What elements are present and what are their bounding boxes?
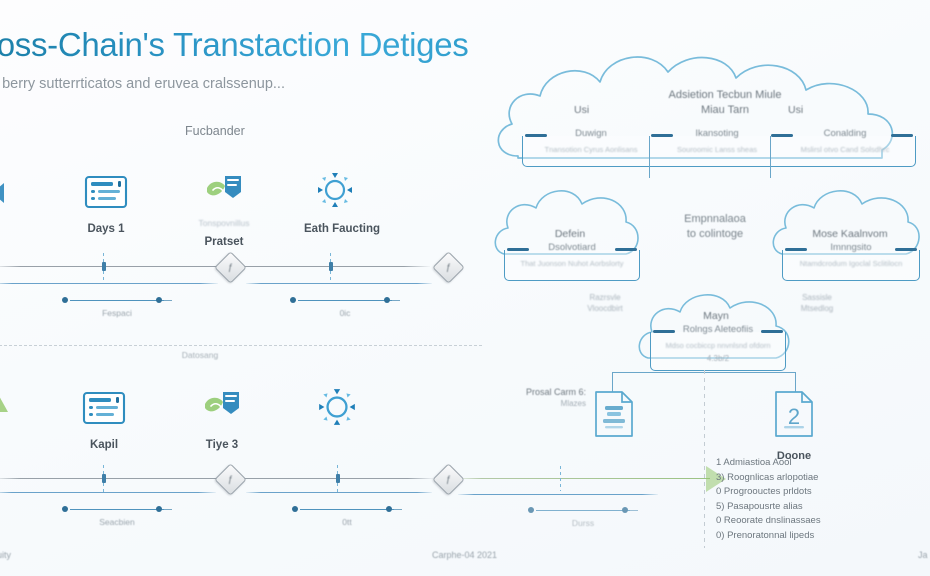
cloud-top-title-line1: Adsietion Tecbun Miule	[600, 88, 850, 103]
band-title: Dsolvotiard	[505, 242, 639, 253]
cloud-top-left-tag: Usi	[574, 104, 589, 116]
band-title: Duwign	[527, 128, 655, 139]
list-item: 0 Progroouctes prldots	[716, 485, 821, 500]
list-item: 0 Reoorate dnslinassaes	[716, 514, 821, 529]
measure-label: Fespaci	[62, 308, 172, 318]
cloud-top-title: Adsietion Tecbun Miule Miau Tarn	[600, 88, 850, 118]
timeline-underline	[458, 494, 658, 495]
timeline-node-glyph: ƒ	[220, 469, 241, 490]
svg-text:2: 2	[788, 404, 800, 429]
section-label: Fucbander	[185, 124, 245, 138]
icon-caption: Eath Faucting	[304, 223, 366, 235]
timeline-node-glyph: ƒ	[438, 257, 459, 278]
vertical-dashed-divider	[704, 370, 705, 548]
center-note-line2: to colintoge	[640, 227, 790, 242]
connector-line	[649, 136, 650, 178]
edge-triangle-icon	[0, 386, 20, 425]
cloud-top-title-line2: Miau Tarn	[600, 103, 850, 118]
icon-subcaption: Tonspovnillus	[198, 218, 250, 228]
timeline-tick-dot	[329, 262, 333, 271]
timeline-node-glyph: ƒ	[220, 257, 241, 278]
icon-caption: Days 1	[82, 223, 130, 235]
document-icon-right: 2 Doone	[772, 388, 816, 462]
icon-caption: Kapil	[80, 439, 128, 451]
measure-label: 0tt	[292, 517, 402, 527]
page-title: ross-Chain's Transtaction Detiges	[0, 26, 506, 64]
timeline-underline	[0, 492, 216, 493]
edge-marker-icon	[0, 176, 20, 215]
cloud-left-title: Defein	[510, 228, 630, 240]
band-title: Imnngsito	[783, 242, 919, 253]
cloud-left-band: Dsolvotiard That Juonson Nuhot Aorbslort…	[504, 250, 640, 281]
timeline-tick-dot	[102, 474, 106, 483]
timeline-node[interactable]: ƒ	[432, 251, 465, 284]
timeline-underline	[0, 283, 218, 284]
timeline-underline	[246, 283, 432, 284]
footer-right: Ja	[918, 550, 928, 560]
band-title: Rolngs Aleteofiis	[651, 324, 785, 335]
card-form-icon: Days 1	[82, 174, 130, 235]
timeline-tick	[560, 466, 561, 491]
cloud-right-band: Imnngsito Ntamdcrodum Igoclal Sclitilocn	[782, 250, 920, 281]
list-item: 0) Prenoratonnal lipeds	[716, 529, 821, 544]
band-title: Conalding	[779, 128, 911, 139]
card-form-icon: Kapil	[80, 390, 128, 451]
side-note-line1: Razrsvle	[570, 292, 640, 303]
timeline-underline	[246, 492, 432, 493]
timeline-node[interactable]: ƒ	[214, 463, 247, 496]
timeline-node[interactable]: ƒ	[214, 251, 247, 284]
band-sub: Ntamdcrodum Igoclal Sclitilocn	[787, 259, 915, 268]
divider-label: Datosang	[140, 350, 260, 360]
timeline-rail-row2-green	[456, 478, 710, 479]
timeline-node-glyph: ƒ	[438, 469, 459, 490]
document-icon-left	[592, 388, 636, 445]
cloud-top-band: Duwign Tnansotion Cyrus Aonlisans Ikanso…	[522, 136, 916, 167]
band-sub: Mdso cocbiccp nnvnlsnd ofdorn	[655, 341, 781, 350]
footer-left: nuity	[0, 550, 11, 560]
cloud-left-side-note: Razrsvle Vloocdbirt	[570, 292, 640, 314]
band-sub: That Juonson Nuhot Aorbslorty	[509, 259, 635, 268]
measure-span: 0tt	[292, 505, 402, 527]
band-sub: Souroomic Lanss sheas	[659, 145, 775, 154]
cloud-center-note: Empnnalaoa to colintoge	[640, 212, 790, 242]
connector-line	[770, 136, 771, 178]
diagram-canvas: ross-Chain's Transtaction Detiges e berr…	[0, 0, 930, 576]
icon-caption: Tiye 3	[196, 439, 248, 451]
page-subtitle: e berry sutterrticatos and eruvea cralss…	[0, 76, 550, 92]
measure-span: 0ic	[290, 296, 400, 318]
timeline-node[interactable]: ƒ	[432, 463, 465, 496]
doc-note-line2: Mlazes	[498, 398, 586, 410]
list-item: 3) Roognlicas arlopotiae	[716, 471, 821, 486]
sync-exchange-icon: Tonspovnillus Pratset	[198, 172, 250, 248]
measure-span: Fespaci	[62, 296, 172, 318]
band-sub: Mslirsl otvo Cand Solsdhrc	[783, 145, 907, 154]
refresh-cycle-icon	[314, 386, 360, 433]
list-item: 5) Pasapousrte alias	[716, 500, 821, 515]
measure-label: 0ic	[290, 308, 400, 318]
band-title: Ikansoting	[655, 128, 779, 139]
doc-note-line1: Prosal Carm 6:	[498, 386, 586, 398]
measure-span: Durss	[528, 506, 638, 528]
cloud-bottom-band: Rolngs Aleteofiis Mdso cocbiccp nnvnlsnd…	[650, 332, 786, 371]
numbered-list: 1 Admiastioa Aool 3) Roognlicas arlopoti…	[716, 456, 821, 544]
section-divider	[0, 345, 482, 346]
cloud-bottom-title: Mayn	[656, 310, 776, 322]
center-note-line1: Empnnalaoa	[640, 212, 790, 227]
band-sub: Tnansotion Cyrus Aonlisans	[531, 145, 651, 154]
footer-center: Carphe-04 2021	[432, 550, 497, 560]
measure-span: Seacbien	[62, 505, 172, 527]
list-item: 1 Admiastioa Aool	[716, 456, 821, 471]
measure-label: Seacbien	[62, 517, 172, 527]
measure-label: Durss	[528, 518, 638, 528]
cloud-right-title: Mose Kaalnvom	[780, 228, 920, 240]
band-extra: 4.3b/2	[651, 354, 785, 363]
refresh-cycle-icon: Eath Faucting	[304, 170, 366, 235]
icon-caption: Pratset	[198, 236, 250, 248]
timeline-tick-dot	[336, 474, 340, 483]
sync-exchange-icon: Tiye 3	[196, 388, 248, 451]
timeline-tick-dot	[102, 262, 106, 271]
side-note-line2: Vloocdbirt	[570, 303, 640, 314]
document-left-note: Prosal Carm 6: Mlazes	[498, 386, 586, 410]
cloud-top-right-tag: Usi	[788, 104, 803, 116]
